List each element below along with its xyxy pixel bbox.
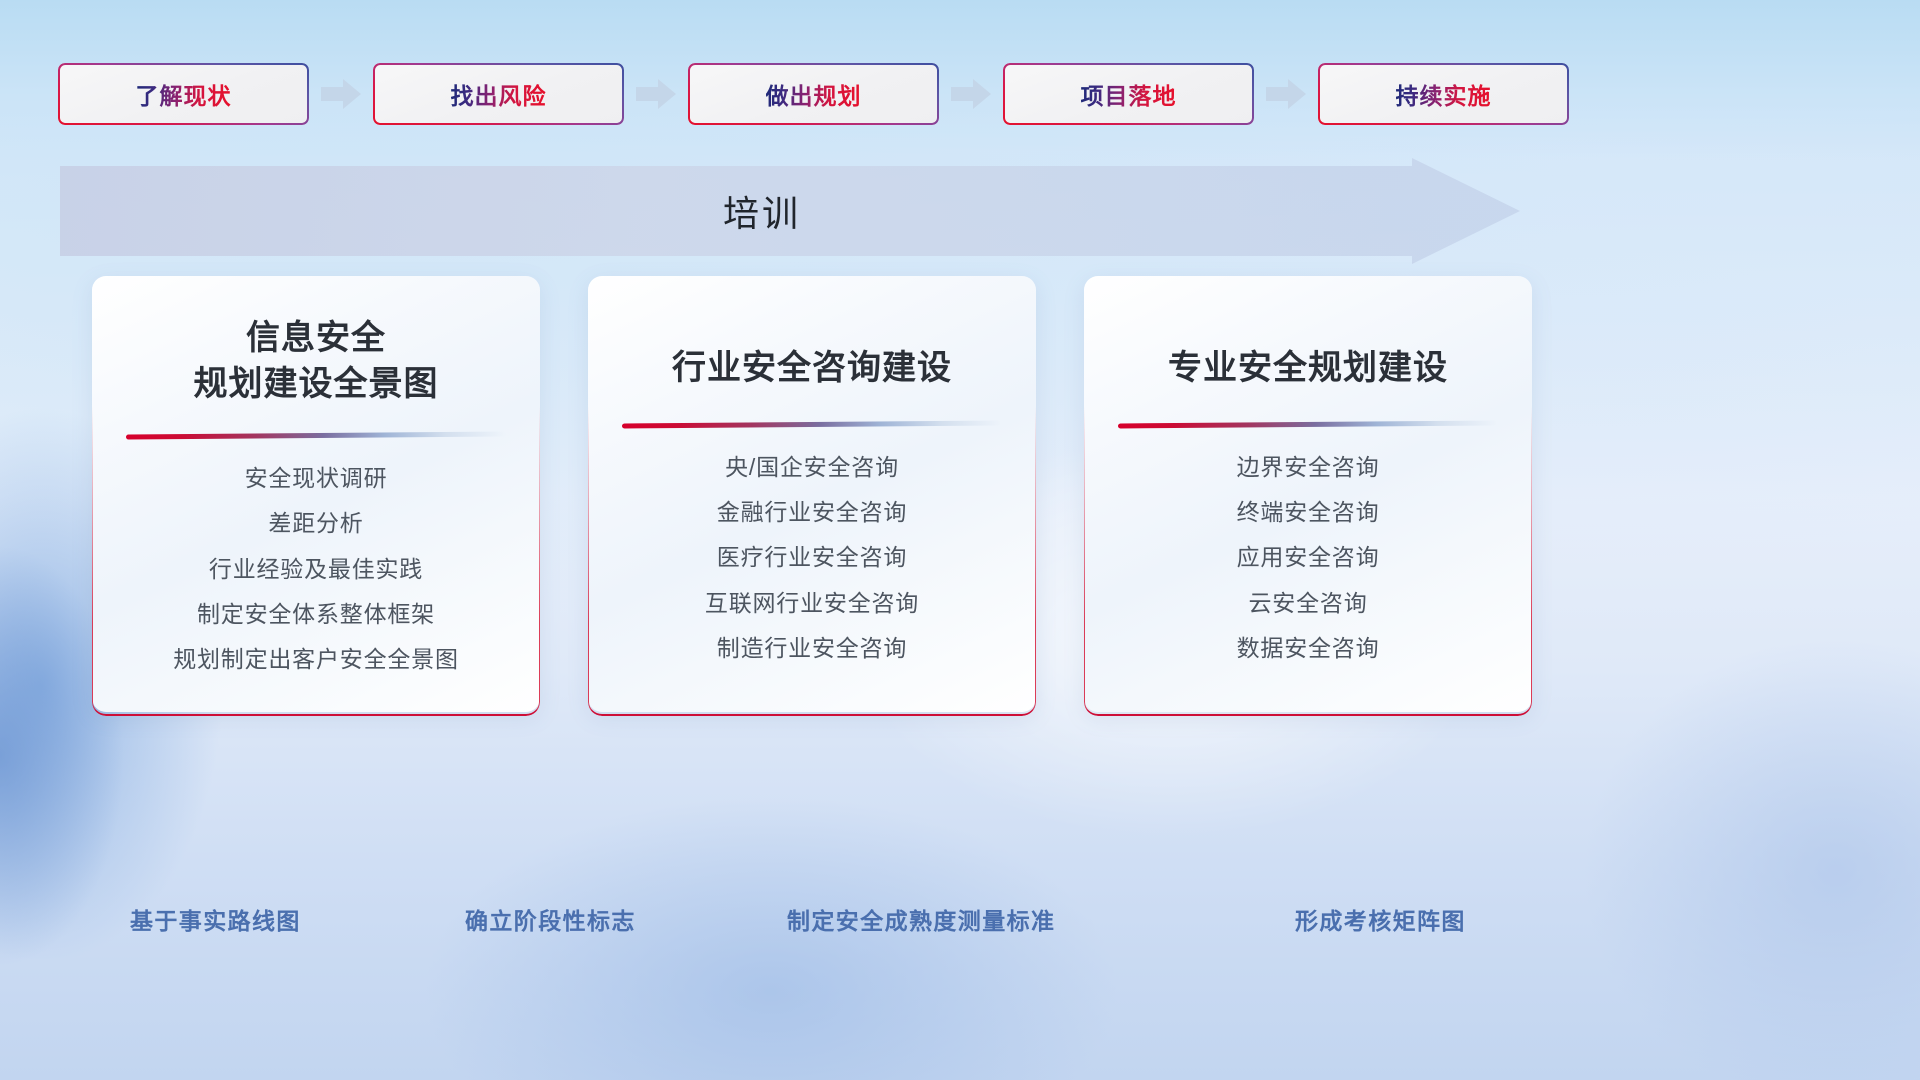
footer-label-1: 基于事实路线图: [130, 902, 301, 936]
training-banner-title: 培训: [60, 158, 1464, 264]
process-step-5[interactable]: 持续实施: [1318, 63, 1569, 125]
card-row: 信息安全 规划建设全景图 安全现状调研 差距分析 行业经验及最佳实践 制定安全体…: [92, 276, 1532, 712]
process-step-3[interactable]: 做出规划: [688, 63, 939, 125]
training-banner: 培训: [60, 158, 1520, 264]
footer-label-2: 确立阶段性标志: [465, 902, 636, 936]
card-1-title: 信息安全 规划建设全景图: [194, 316, 439, 407]
card-industry-security-consulting[interactable]: 行业安全咨询建设 央/国企安全咨询 金融行业安全咨询 医疗行业安全咨询 互联网行…: [588, 276, 1036, 712]
list-item: 医疗行业安全咨询: [717, 541, 907, 574]
card-3-list: 边界安全咨询 终端安全咨询 应用安全咨询 云安全咨询 数据安全咨询: [1237, 451, 1380, 666]
list-item: 安全现状调研: [245, 462, 388, 495]
footer-label-4: 形成考核矩阵图: [1295, 902, 1466, 936]
card-1-divider: [126, 432, 506, 440]
process-arrow-3-icon: [951, 77, 991, 111]
process-step-1-label: 了解现状: [136, 77, 232, 111]
card-2-divider: [622, 420, 1002, 428]
process-step-3-label: 做出规划: [766, 77, 862, 111]
process-step-2[interactable]: 找出风险: [373, 63, 624, 125]
footer-label-row: 基于事实路线图 确立阶段性标志 制定安全成熟度测量标准 形成考核矩阵图: [0, 902, 1920, 948]
list-item: 云安全咨询: [1249, 587, 1368, 620]
process-step-bar: 了解现状 找出风险 做出规划 项目落地 持续实施: [58, 63, 1870, 125]
list-item: 互联网行业安全咨询: [705, 587, 919, 620]
list-item: 制造行业安全咨询: [717, 632, 907, 665]
list-item: 数据安全咨询: [1237, 632, 1380, 665]
card-3-title: 专业安全规划建设: [1168, 346, 1448, 392]
card-1-list: 安全现状调研 差距分析 行业经验及最佳实践 制定安全体系整体框架 规划制定出客户…: [173, 462, 459, 677]
card-2-list: 央/国企安全咨询 金融行业安全咨询 医疗行业安全咨询 互联网行业安全咨询 制造行…: [705, 451, 919, 666]
process-step-5-label: 持续实施: [1396, 77, 1492, 111]
list-item: 行业经验及最佳实践: [209, 553, 423, 586]
list-item: 边界安全咨询: [1237, 451, 1380, 484]
footer-label-3: 制定安全成熟度测量标准: [787, 902, 1055, 936]
list-item: 金融行业安全咨询: [717, 496, 907, 529]
list-item: 规划制定出客户安全全景图: [173, 643, 459, 676]
process-arrow-4-icon: [1266, 77, 1306, 111]
process-step-4[interactable]: 项目落地: [1003, 63, 1254, 125]
card-information-security-blueprint[interactable]: 信息安全 规划建设全景图 安全现状调研 差距分析 行业经验及最佳实践 制定安全体…: [92, 276, 540, 712]
card-professional-security-planning[interactable]: 专业安全规划建设 边界安全咨询 终端安全咨询 应用安全咨询 云安全咨询 数据安全…: [1084, 276, 1532, 712]
process-arrow-1-icon: [321, 77, 361, 111]
process-step-2-label: 找出风险: [451, 77, 547, 111]
card-2-title: 行业安全咨询建设: [672, 346, 952, 392]
process-step-1[interactable]: 了解现状: [58, 63, 309, 125]
list-item: 制定安全体系整体框架: [197, 598, 435, 631]
list-item: 终端安全咨询: [1237, 496, 1380, 529]
process-arrow-2-icon: [636, 77, 676, 111]
list-item: 差距分析: [268, 507, 363, 540]
process-step-4-label: 项目落地: [1081, 77, 1177, 111]
card-3-divider: [1118, 420, 1498, 428]
list-item: 央/国企安全咨询: [725, 451, 899, 484]
list-item: 应用安全咨询: [1237, 541, 1380, 574]
